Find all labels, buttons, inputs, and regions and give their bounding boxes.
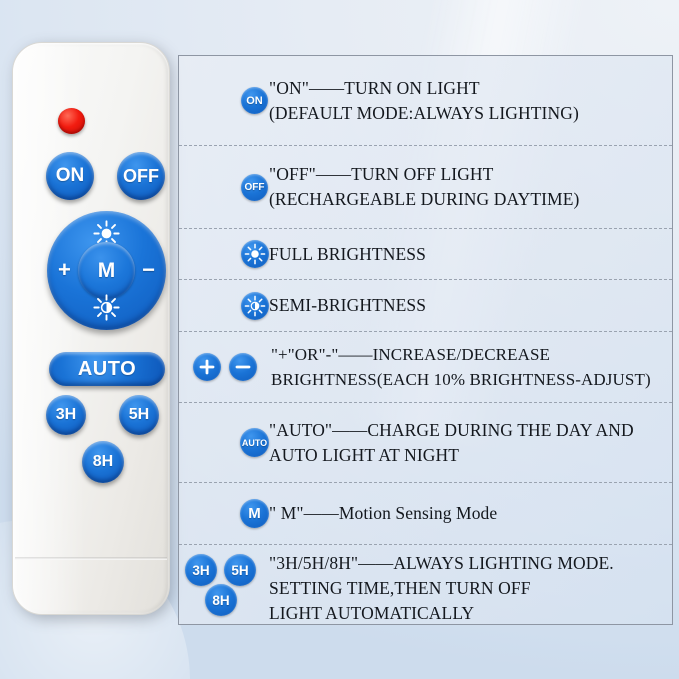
legend-row-timer: 3H 5H 8H "3H/5H/8H"——ALWAYS LIGHTING MOD…: [179, 545, 672, 624]
legend-row-semi-brightness-icons: [191, 280, 269, 331]
remote-m-button[interactable]: M: [78, 242, 135, 299]
legend-row-semi-brightness-text: SEMI-BRIGHTNESS: [269, 293, 426, 318]
sun-full-icon: [241, 240, 269, 268]
legend-row-on: ON "ON"——TURN ON LIGHT (DEFAULT MODE:ALW…: [179, 56, 672, 146]
remote-5h-button[interactable]: 5H: [119, 395, 159, 435]
h5-chip-icon: 5H: [224, 554, 256, 586]
m-chip-icon: M: [240, 499, 269, 528]
legend-row-motion: M " M"——Motion Sensing Mode: [179, 483, 672, 545]
remote-on-button[interactable]: ON: [46, 152, 94, 200]
sun-half-icon[interactable]: [92, 293, 121, 322]
legend-row-off: OFF "OFF"——TURN OFF LIGHT (RECHARGEABLE …: [179, 146, 672, 229]
on-chip-icon: ON: [241, 87, 268, 114]
remote-plus-button[interactable]: +: [58, 259, 71, 281]
sun-half-icon: [241, 292, 269, 320]
legend-row-full-brightness-icons: [191, 229, 269, 279]
plus-chip-icon: [193, 353, 221, 381]
legend-row-full-brightness: FULL BRIGHTNESS: [179, 229, 672, 280]
legend-row-timer-icons: 3H 5H 8H: [185, 553, 269, 617]
legend-row-off-text: "OFF"——TURN OFF LIGHT (RECHARGEABLE DURI…: [269, 162, 579, 212]
legend-row-off-icons: OFF: [191, 146, 269, 228]
legend-row-timer-text: "3H/5H/8H"——ALWAYS LIGHTING MODE. SETTIN…: [269, 551, 614, 626]
legend-panel: ON "ON"——TURN ON LIGHT (DEFAULT MODE:ALW…: [178, 55, 673, 625]
remote-auto-button[interactable]: AUTO: [49, 352, 165, 386]
product-instruction-graphic: ON OFF: [0, 0, 679, 679]
remote-battery-cover-seam: [15, 557, 167, 560]
remote-dial[interactable]: M + −: [47, 211, 166, 330]
ir-led-indicator: [58, 108, 85, 134]
legend-row-brightness-adjust-icons: [179, 332, 271, 402]
remote-minus-button[interactable]: −: [142, 259, 155, 281]
legend-row-full-brightness-text: FULL BRIGHTNESS: [269, 242, 426, 267]
minus-chip-icon: [229, 353, 257, 381]
h3-chip-icon: 3H: [185, 554, 217, 586]
legend-row-auto: AUTO "AUTO"——CHARGE DURING THE DAY AND A…: [179, 403, 672, 483]
auto-chip-icon: AUTO: [240, 428, 269, 457]
remote-3h-button[interactable]: 3H: [46, 395, 86, 435]
legend-row-brightness-adjust: "+"OR"-"——INCREASE/DECREASE BRIGHTNESS(E…: [179, 332, 672, 403]
legend-row-on-text: "ON"——TURN ON LIGHT (DEFAULT MODE:ALWAYS…: [269, 76, 579, 126]
legend-row-auto-text: "AUTO"——CHARGE DURING THE DAY AND AUTO L…: [269, 418, 634, 468]
legend-row-auto-icons: AUTO: [191, 403, 269, 482]
legend-row-motion-icons: M: [191, 483, 269, 544]
legend-row-motion-text: " M"——Motion Sensing Mode: [269, 501, 497, 526]
remote-control-body: ON OFF: [12, 42, 170, 615]
remote-off-button[interactable]: OFF: [117, 152, 165, 200]
legend-row-semi-brightness: SEMI-BRIGHTNESS: [179, 280, 672, 332]
h8-chip-icon: 8H: [205, 584, 237, 616]
off-chip-icon: OFF: [241, 174, 268, 201]
remote-8h-button[interactable]: 8H: [82, 441, 124, 483]
legend-row-on-icons: ON: [191, 56, 269, 145]
legend-row-brightness-adjust-text: "+"OR"-"——INCREASE/DECREASE BRIGHTNESS(E…: [271, 342, 651, 392]
